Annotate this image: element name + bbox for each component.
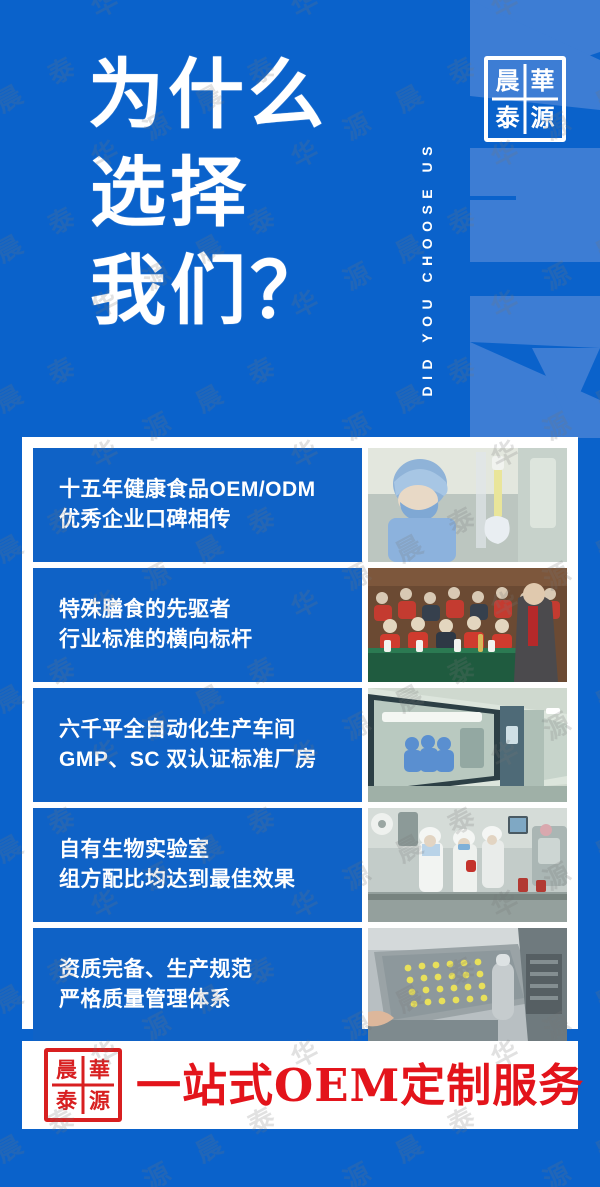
feature-card: 自有生物实验室 组方配比均达到最佳效果: [33, 808, 362, 922]
seal-char-chen: 晨: [491, 63, 524, 98]
brand-seal-white: 晨 泰 華 源: [484, 56, 566, 142]
feature-card: 六千平全自动化生产车间 GMP、SC 双认证标准厂房: [33, 688, 362, 802]
conference-audience-photo: [368, 568, 567, 682]
poster-root: 为什么 选择 我们？ DID YOU CHOOSE US 晨 泰 華 源: [0, 0, 600, 1187]
feature-row: 六千平全自动化生产车间 GMP、SC 双认证标准厂房: [33, 688, 567, 802]
seal-char-hua: 華: [526, 63, 559, 98]
feature-line: GMP、SC 双认证标准厂房: [59, 745, 362, 775]
feature-line: 严格质量管理体系: [59, 985, 362, 1015]
seal-char-yuan: 源: [84, 1086, 115, 1115]
vertical-tagline-text: DID YOU CHOOSE US: [419, 140, 435, 397]
feature-card: 十五年健康食品OEM/ODM 优秀企业口碑相传: [33, 448, 362, 562]
hero-section: 为什么 选择 我们？ DID YOU CHOOSE US 晨 泰 華 源: [0, 0, 600, 438]
feature-line: 特殊膳食的先驱者: [59, 595, 362, 625]
lab-technician-pipetting-photo: [368, 448, 567, 562]
feature-row: 自有生物实验室 组方配比均达到最佳效果: [33, 808, 567, 922]
features-list: 十五年健康食品OEM/ODM 优秀企业口碑相传: [33, 448, 567, 1042]
brand-seal-red: 晨 泰 華 源: [44, 1048, 122, 1122]
feature-card: 资质完备、生产规范 严格质量管理体系: [33, 928, 362, 1042]
feature-line: 自有生物实验室: [59, 835, 362, 865]
page-title: 为什么 选择 我们？: [88, 46, 388, 340]
seal-frame: 晨 泰 華 源: [44, 1048, 122, 1122]
cleanroom-corridor-photo: [368, 688, 567, 802]
feature-line: 行业标准的横向标杆: [59, 625, 362, 655]
seal-char-yuan: 源: [526, 100, 559, 135]
title-line-3: 我们？: [90, 242, 388, 340]
seal-char-chen: 晨: [51, 1055, 82, 1084]
feature-line: 优秀企业口碑相传: [59, 505, 362, 535]
feature-line: 六千平全自动化生产车间: [59, 715, 362, 745]
vertical-tagline: DID YOU CHOOSE US: [412, 18, 442, 396]
feature-card: 特殊膳食的先驱者 行业标准的横向标杆: [33, 568, 362, 682]
cta-text: 一站式OEM定制服务: [136, 1063, 584, 1108]
seal-char-hua: 華: [84, 1055, 115, 1084]
seal-divider-horizontal: [492, 98, 558, 101]
seal-char-tai: 泰: [491, 100, 524, 135]
seal-char-tai: 泰: [51, 1086, 82, 1115]
cta-banner: 晨 泰 華 源 一站式OEM定制服务: [22, 1041, 578, 1129]
feature-line: 资质完备、生产规范: [59, 955, 362, 985]
capsule-filling-machine-photo: [368, 928, 567, 1042]
feature-line: 组方配比均达到最佳效果: [59, 865, 362, 895]
title-line-2: 选择: [90, 144, 388, 242]
feature-row: 十五年健康食品OEM/ODM 优秀企业口碑相传: [33, 448, 567, 562]
seal-frame: 晨 泰 華 源: [484, 56, 566, 142]
feature-row: 资质完备、生产规范 严格质量管理体系: [33, 928, 567, 1042]
production-line-workers-photo: [368, 808, 567, 922]
feature-line: 十五年健康食品OEM/ODM: [59, 475, 362, 505]
title-line-1: 为什么: [88, 46, 388, 144]
seal-divider-horizontal: [52, 1084, 114, 1087]
feature-row: 特殊膳食的先驱者 行业标准的横向标杆: [33, 568, 567, 682]
